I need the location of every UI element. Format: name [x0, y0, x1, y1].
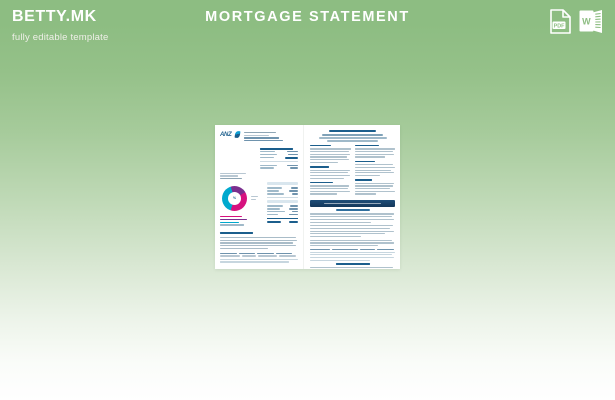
section-banner-title	[324, 203, 380, 205]
transactions-panel-header	[267, 182, 298, 185]
bank-logo-text: ANZ	[220, 131, 231, 138]
fees-table	[310, 249, 395, 261]
terms-column-right	[355, 145, 396, 196]
account-summary-strip	[260, 148, 298, 169]
svg-text:W: W	[582, 16, 591, 26]
account-holder-address-block	[244, 131, 298, 143]
pdf-format-icon[interactable]: PDF	[550, 9, 571, 39]
document-page-2[interactable]	[303, 125, 400, 269]
section-subheading	[336, 209, 370, 211]
donut-center-label: %	[222, 186, 247, 211]
transactions-panel	[267, 182, 298, 227]
document-page-1[interactable]: ANZ	[215, 125, 303, 269]
terms-two-column-text	[310, 145, 395, 196]
page-title: MORTGAGE STATEMENT	[0, 9, 615, 25]
statement-period-label	[220, 173, 246, 180]
brand-tagline: fully editable template	[12, 32, 109, 43]
format-icons: PDF W	[550, 9, 603, 39]
right-page-heading	[310, 130, 395, 142]
word-format-icon[interactable]: W	[579, 9, 603, 39]
terms-column-left	[310, 145, 351, 196]
bank-logo-mark-icon	[235, 131, 241, 139]
loan-breakdown-donut-chart: %	[222, 186, 247, 211]
section-banner	[310, 200, 395, 207]
payment-options-table	[220, 253, 298, 263]
bank-logo-row: ANZ	[220, 131, 298, 143]
loan-breakdown-chart-block: %	[220, 182, 262, 227]
terms-body-text	[310, 213, 395, 246]
balance-panel-header	[267, 200, 298, 203]
important-information-block	[220, 232, 298, 249]
donut-legend	[220, 216, 262, 225]
document-preview[interactable]: ANZ	[215, 125, 400, 269]
template-preview-page: BETTY.MK fully editable template MORTGAG…	[0, 0, 615, 400]
svg-text:PDF: PDF	[554, 24, 565, 30]
footer-notes	[310, 263, 395, 269]
donut-callout	[251, 196, 262, 201]
